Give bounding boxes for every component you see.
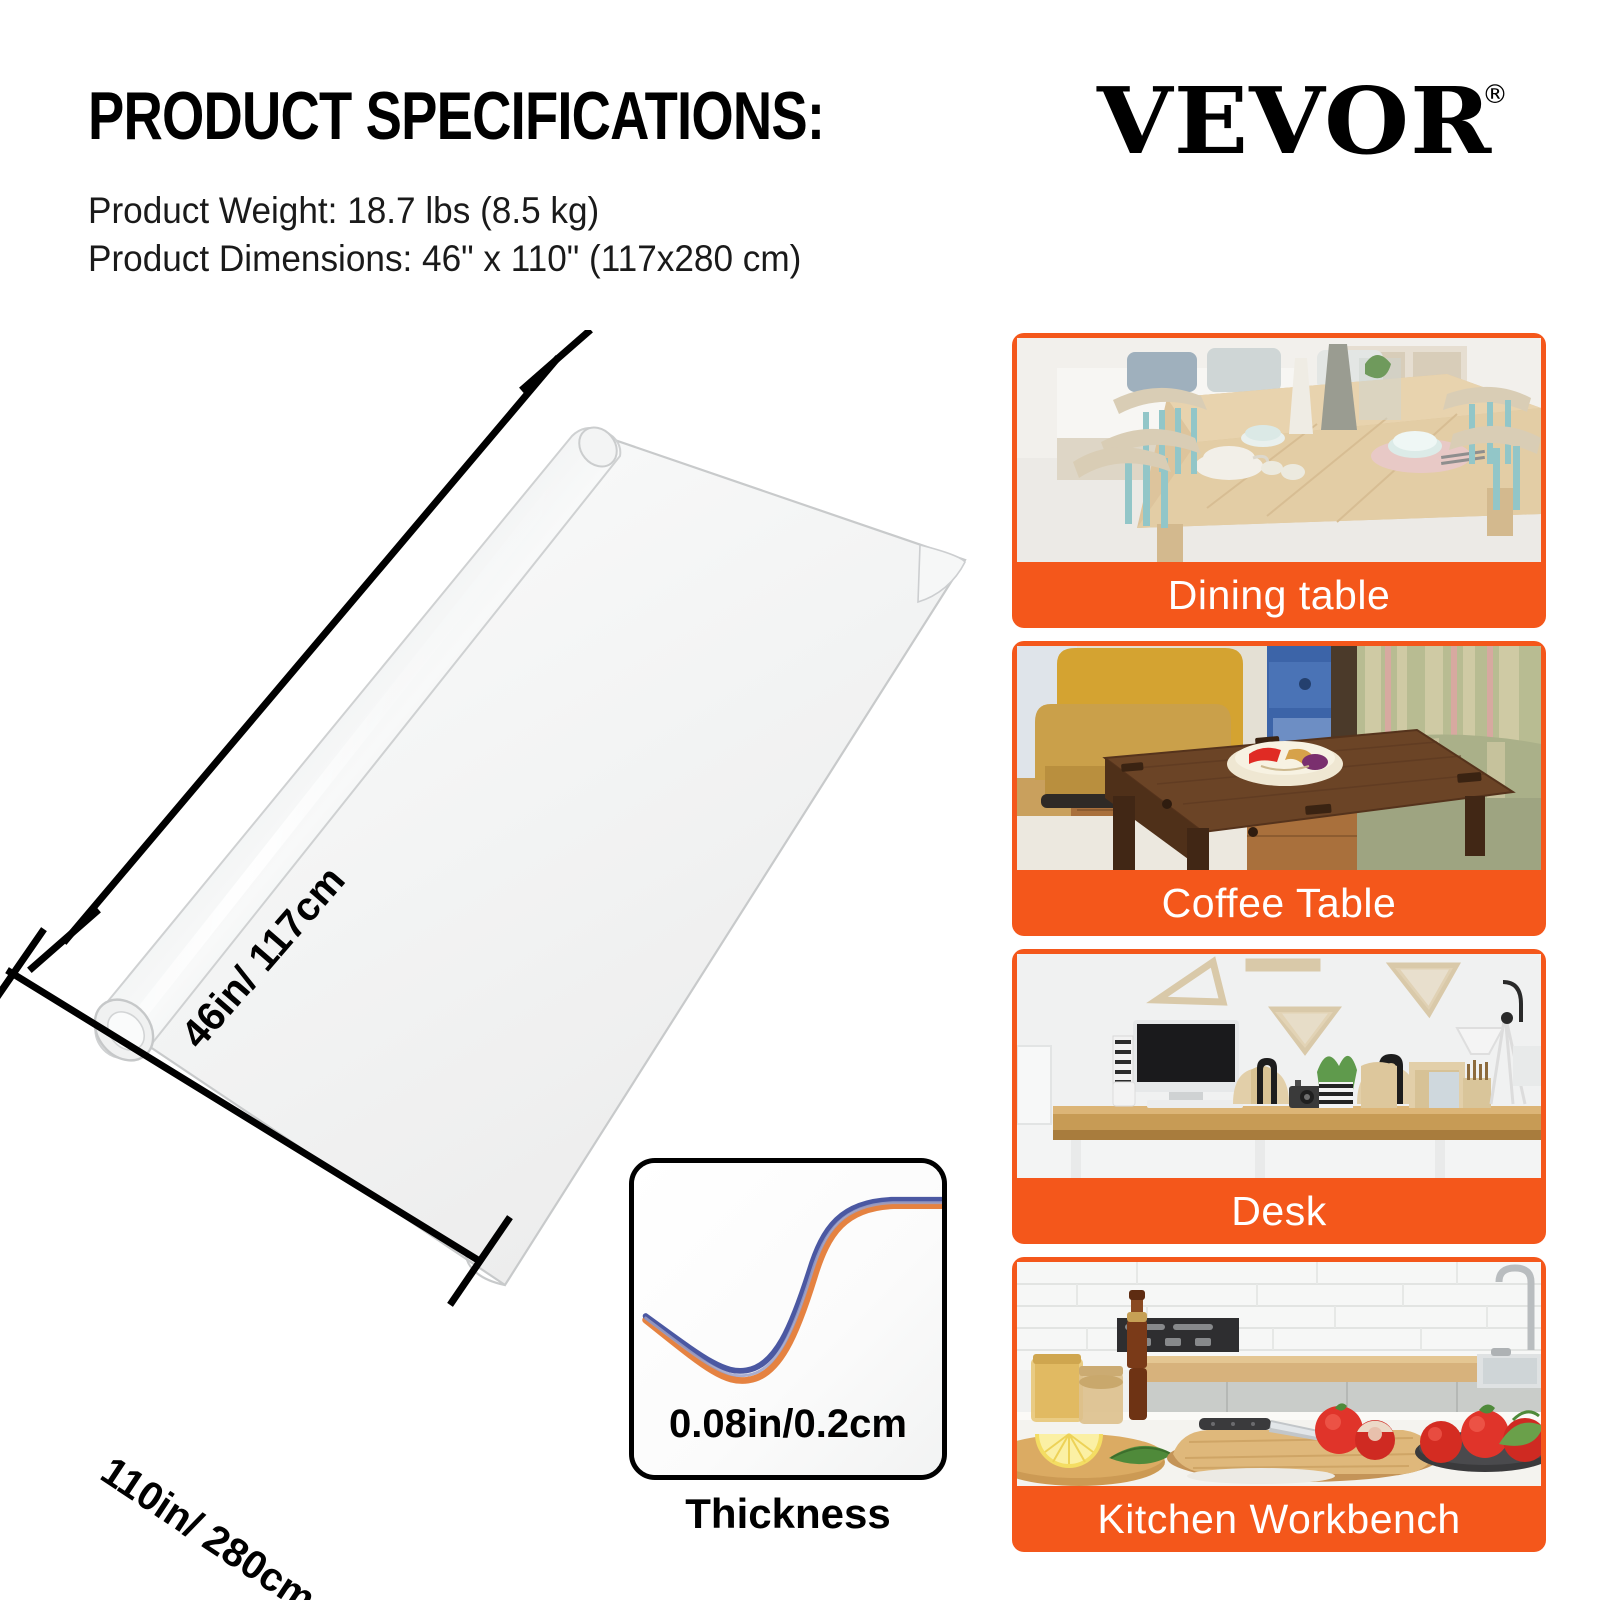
thickness-value: 0.08in/0.2cm bbox=[634, 1402, 942, 1447]
vevor-wordmark: VEVOR bbox=[1097, 78, 1492, 165]
use-case-label-dining-table: Dining table bbox=[1017, 562, 1541, 628]
use-case-label-coffee-table: Coffee Table bbox=[1017, 870, 1541, 936]
desk-photo bbox=[1017, 954, 1541, 1178]
kitchen-workbench-photo bbox=[1017, 1262, 1541, 1486]
product-dimensions-line: Product Dimensions: 46" x 110" (117x280 … bbox=[88, 238, 801, 280]
thickness-callout: 0.08in/0.2cm Thickness bbox=[629, 1158, 947, 1480]
dimension-label-length: 110in/ 280cm bbox=[93, 1449, 324, 1600]
brand-logo: VEVOR ® bbox=[1097, 78, 1508, 165]
use-case-card-kitchen-workbench[interactable]: Kitchen Workbench bbox=[1012, 1257, 1546, 1552]
thickness-box: 0.08in/0.2cm bbox=[629, 1158, 947, 1480]
product-weight-line: Product Weight: 18.7 lbs (8.5 kg) bbox=[88, 190, 599, 232]
coffee-table-photo bbox=[1017, 646, 1541, 870]
use-case-card-dining-table[interactable]: Dining table bbox=[1012, 333, 1546, 628]
use-case-label-desk: Desk bbox=[1017, 1178, 1541, 1244]
use-case-card-list: Dining table bbox=[1012, 333, 1546, 1565]
product-spec-infographic: PRODUCT SPECIFICATIONS: Product Weight: … bbox=[0, 0, 1600, 1600]
dining-table-photo bbox=[1017, 338, 1541, 562]
page-title: PRODUCT SPECIFICATIONS: bbox=[88, 82, 824, 150]
use-case-label-kitchen-workbench: Kitchen Workbench bbox=[1017, 1486, 1541, 1552]
use-case-card-desk[interactable]: Desk bbox=[1012, 949, 1546, 1244]
use-case-card-coffee-table[interactable]: Coffee Table bbox=[1012, 641, 1546, 936]
thickness-caption: Thickness bbox=[629, 1490, 947, 1538]
